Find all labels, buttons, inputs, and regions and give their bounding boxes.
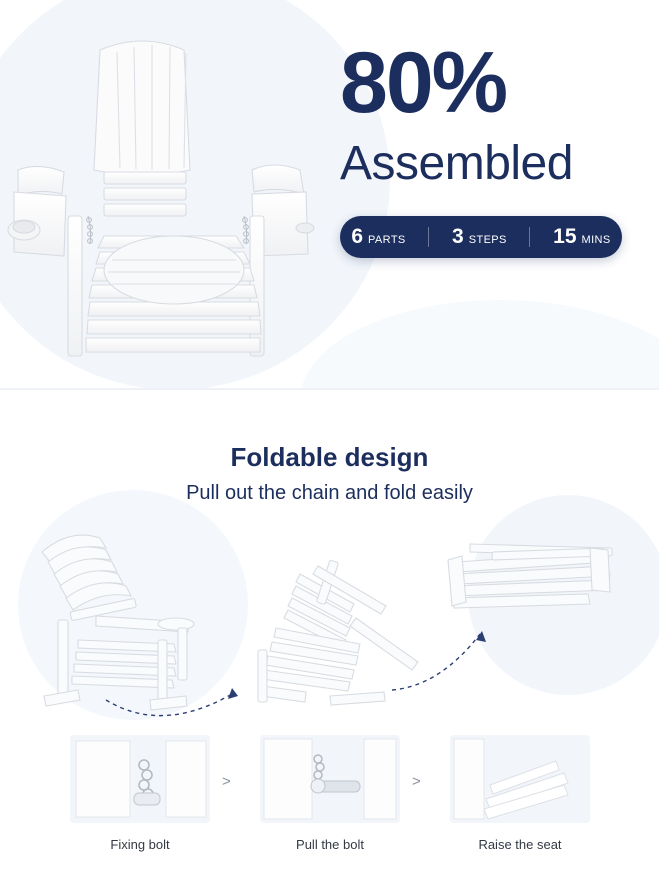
stat-parts-value: 6 — [351, 225, 363, 249]
assembled-percentage: 80% — [340, 40, 640, 126]
step-image-raise-the-seat — [450, 735, 590, 823]
foldable-section: Foldable design Pull out the chain and f… — [0, 390, 659, 740]
assembled-label: Assembled — [340, 140, 640, 188]
stat-steps: 3 STEPS — [452, 225, 507, 249]
hero-background-blob-secondary — [300, 300, 659, 390]
stat-mins-value: 15 — [553, 225, 576, 249]
stage-1-chair — [42, 535, 194, 710]
stat-mins-unit: MINS — [582, 234, 611, 246]
hero-section: 80% Assembled 6 PARTS 3 STEPS 15 MINS — [0, 0, 659, 390]
stat-parts-unit: PARTS — [368, 234, 406, 246]
stat-steps-unit: STEPS — [469, 234, 507, 246]
step-separator-1: > — [222, 773, 231, 790]
step-image-fixing-bolt — [70, 735, 210, 823]
step-caption-1: Fixing bolt — [50, 837, 230, 852]
stats-divider-2 — [529, 227, 530, 247]
foldable-title: Foldable design — [0, 442, 659, 473]
stats-pill: 6 PARTS 3 STEPS 15 MINS — [340, 216, 622, 258]
stats-divider-1 — [428, 227, 429, 247]
stat-steps-value: 3 — [452, 225, 464, 249]
steps-section: Fixing bolt > Pull the bolt > Rais — [0, 725, 659, 879]
hero-text-block: 80% Assembled 6 PARTS 3 STEPS 15 MINS — [340, 40, 640, 258]
stat-parts: 6 PARTS — [351, 225, 405, 249]
step-separator-2: > — [412, 773, 421, 790]
step-caption-2: Pull the bolt — [240, 837, 420, 852]
foldable-stages-illustration — [0, 500, 659, 730]
product-illustration — [0, 20, 340, 370]
step-image-pull-the-bolt — [260, 735, 400, 823]
step-caption-3: Raise the seat — [430, 837, 610, 852]
stage-3-chair — [448, 544, 612, 608]
stage-2-chair — [258, 560, 418, 705]
flow-arrow-head-1 — [228, 688, 238, 699]
stat-mins: 15 MINS — [553, 225, 610, 249]
